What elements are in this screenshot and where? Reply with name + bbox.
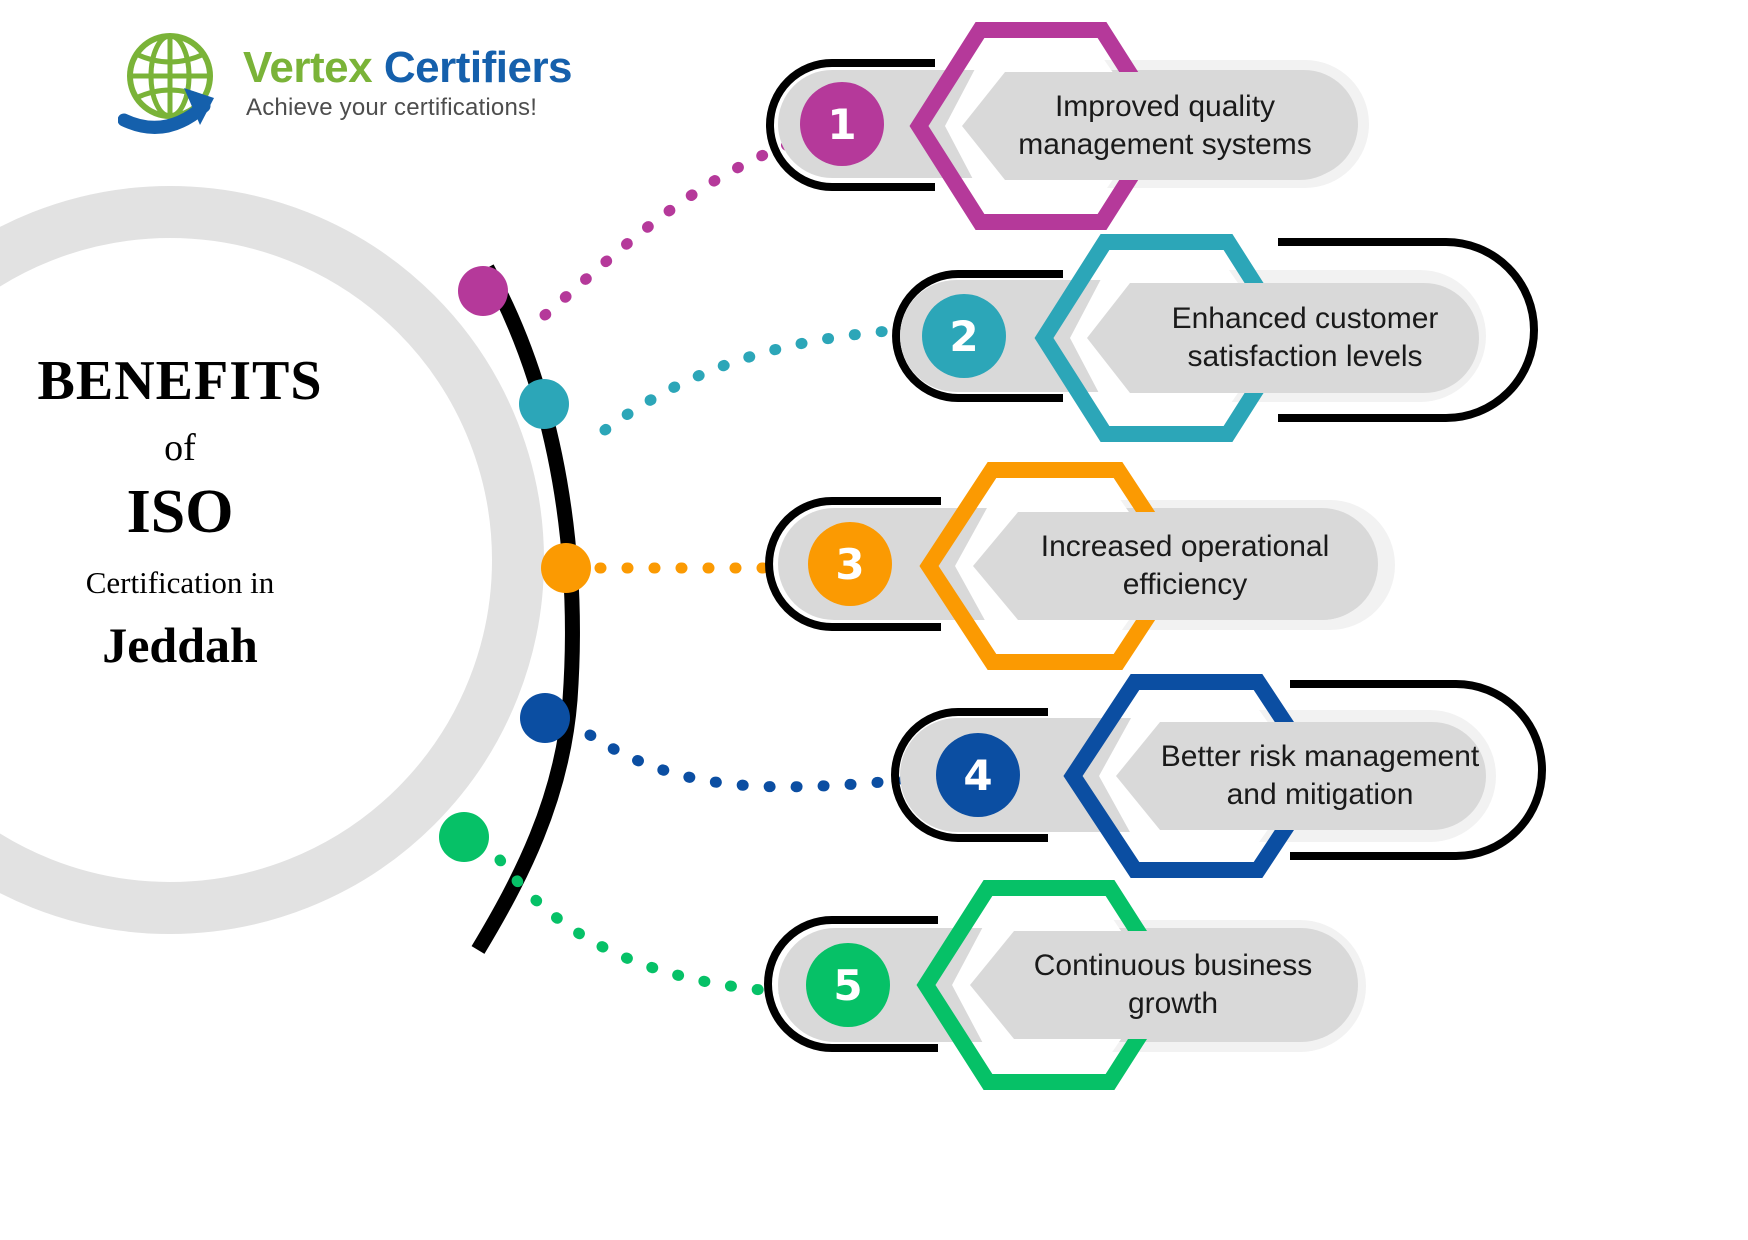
benefit-label-2: Enhanced customer satisfaction levels	[1125, 278, 1485, 398]
benefit-label-4: Better risk management and mitigation	[1140, 716, 1500, 836]
page-title: BENEFITS of ISO Certification in Jeddah	[0, 352, 360, 670]
title-line-certification: Certification in	[0, 567, 360, 598]
benefit-label-1: Improved quality management systems	[1000, 62, 1330, 190]
brand-name-part2: Certifiers	[384, 43, 572, 92]
benefit-number-1: 1	[800, 82, 884, 166]
brand-name: Vertex Certifiers	[243, 46, 572, 90]
infographic-canvas: Vertex Certifiers Achieve your certifica…	[0, 0, 1748, 1240]
title-line-benefits: BENEFITS	[0, 352, 360, 411]
title-line-iso: ISO	[0, 481, 360, 543]
arc-dot-3	[541, 543, 591, 593]
connector-line-1	[545, 140, 800, 315]
arc-dot-5	[439, 812, 489, 862]
title-line-city: Jeddah	[0, 620, 360, 670]
brand-logo[interactable]: Vertex Certifiers Achieve your certifica…	[118, 28, 558, 140]
connector-line-2	[605, 328, 930, 430]
benefit-number-3: 3	[808, 522, 892, 606]
globe-arrow-icon	[118, 28, 230, 140]
connector-line-4	[590, 735, 930, 787]
benefit-label-3: Increased operational efficiency	[1010, 504, 1360, 628]
benefit-number-5: 5	[806, 943, 890, 1027]
arc-dot-2	[519, 379, 569, 429]
title-line-of: of	[0, 429, 360, 467]
brand-name-part1: Vertex	[243, 43, 372, 92]
arc-dot-1	[458, 266, 508, 316]
benefit-label-5: Continuous business growth	[1008, 923, 1338, 1047]
benefit-number-2: 2	[922, 294, 1006, 378]
benefit-number-4: 4	[936, 733, 1020, 817]
arc-dot-4	[520, 693, 570, 743]
connector-line-5	[500, 860, 800, 993]
brand-tagline: Achieve your certifications!	[246, 94, 537, 122]
